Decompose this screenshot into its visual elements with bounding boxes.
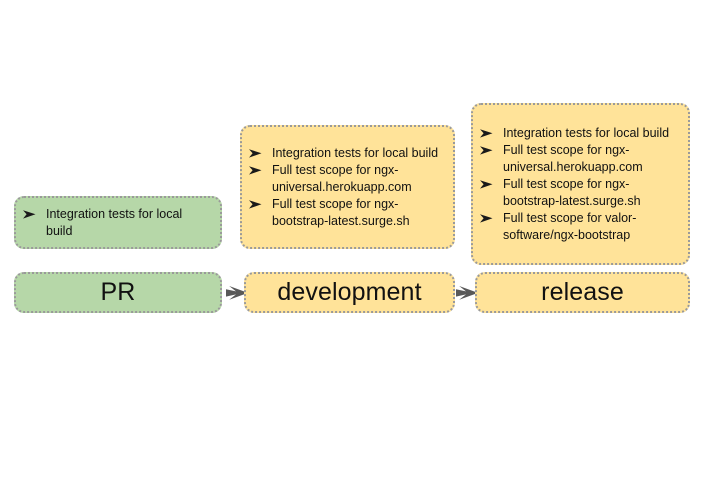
list-item: Full test scope for ngx-bootstrap-latest… bbox=[250, 196, 443, 230]
bullet-arrow-icon bbox=[479, 143, 495, 158]
list-item: Full test scope for ngx-bootstrap-latest… bbox=[481, 176, 678, 210]
bullet-arrow-icon bbox=[479, 126, 495, 141]
list-item: Integration tests for local build bbox=[250, 145, 443, 162]
bullet-arrow-icon bbox=[248, 146, 264, 161]
bullet-arrow-icon bbox=[248, 163, 264, 178]
list-item: Full test scope for valor-software/ngx-b… bbox=[481, 210, 678, 244]
list-item: Full test scope for ngx-universal.heroku… bbox=[250, 162, 443, 196]
list-item-label: Integration tests for local build bbox=[503, 126, 669, 140]
list-item-label: Full test scope for ngx-universal.heroku… bbox=[272, 163, 412, 194]
list-item-label: Full test scope for ngx-universal.heroku… bbox=[503, 143, 643, 174]
stage-box-pr[interactable]: PR bbox=[14, 272, 222, 313]
bullet-arrow-icon bbox=[479, 177, 495, 192]
bullet-arrow-icon bbox=[479, 211, 495, 226]
bullet-arrow-icon bbox=[22, 207, 38, 222]
list-item-label: Full test scope for ngx-bootstrap-latest… bbox=[503, 177, 641, 208]
diagram-canvas: Integration tests for local build PR Int… bbox=[0, 0, 715, 480]
list-item: Full test scope for ngx-universal.heroku… bbox=[481, 142, 678, 176]
list-item: Integration tests for local build bbox=[24, 206, 210, 240]
stage-label-pr: PR bbox=[101, 280, 136, 305]
stage-label-development: development bbox=[277, 280, 421, 305]
list-item-label: Full test scope for ngx-bootstrap-latest… bbox=[272, 197, 410, 228]
list-item-label: Full test scope for valor-software/ngx-b… bbox=[503, 211, 636, 242]
list-item-label: Integration tests for local build bbox=[272, 146, 438, 160]
stage-label-release: release bbox=[541, 280, 624, 305]
bullet-arrow-icon bbox=[248, 197, 264, 212]
stage-box-development[interactable]: development bbox=[244, 272, 455, 313]
list-item-label: Integration tests for local build bbox=[46, 207, 182, 238]
test-list-box-pr[interactable]: Integration tests for local build bbox=[14, 196, 222, 249]
test-list-box-development[interactable]: Integration tests for local build Full t… bbox=[240, 125, 455, 249]
list-item: Integration tests for local build bbox=[481, 125, 678, 142]
stage-box-release[interactable]: release bbox=[475, 272, 690, 313]
test-list-box-release[interactable]: Integration tests for local build Full t… bbox=[471, 103, 690, 265]
